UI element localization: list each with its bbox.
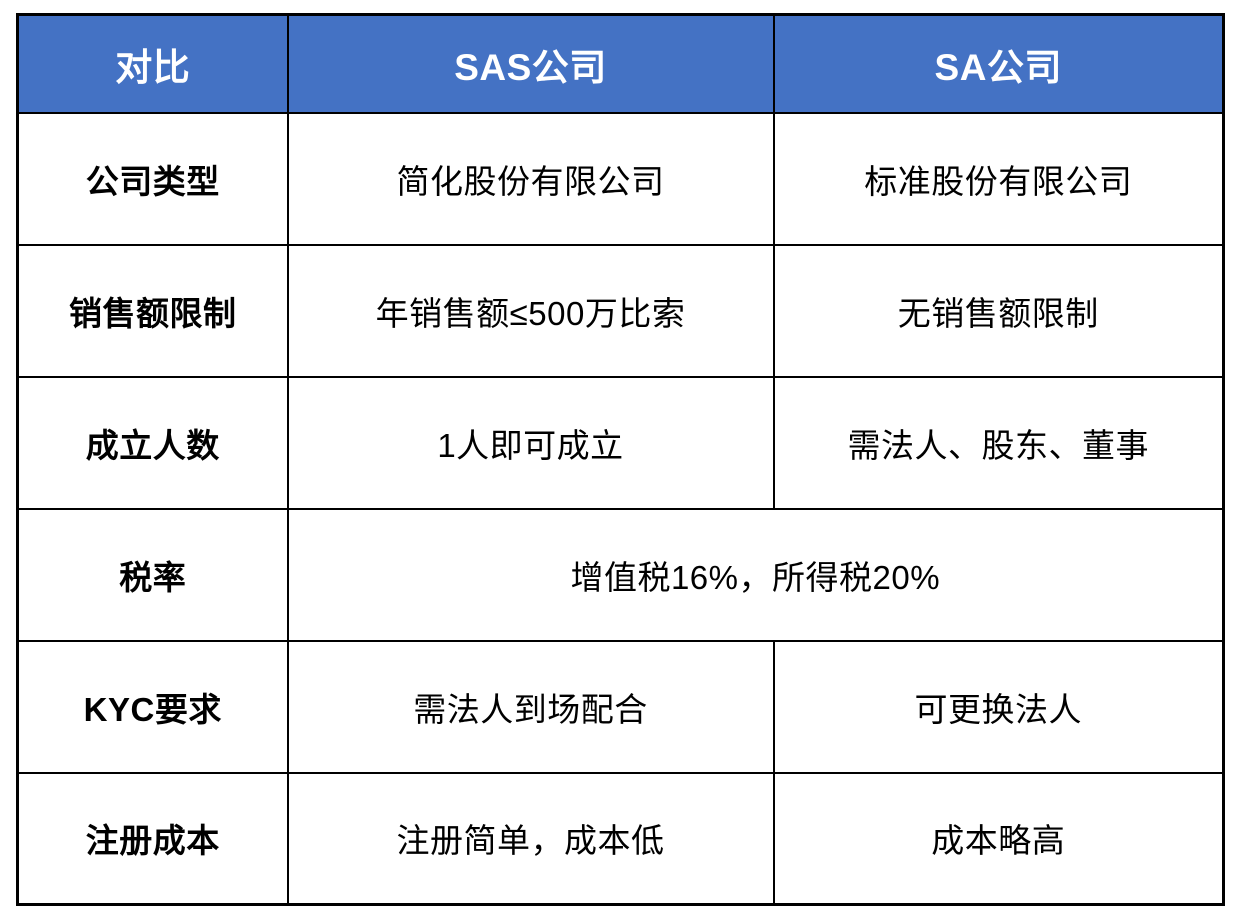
- table-row-founder-count: 成立人数 1人即可成立 需法人、股东、董事: [18, 377, 1224, 509]
- row-label-company-type: 公司类型: [18, 113, 288, 245]
- cell-sas-registration-cost: 注册简单，成本低: [288, 773, 774, 905]
- comparison-table: 对比 SAS公司 SA公司 公司类型 简化股份有限公司 标准股份有限公司 销售额…: [16, 13, 1225, 906]
- table-row-company-type: 公司类型 简化股份有限公司 标准股份有限公司: [18, 113, 1224, 245]
- comparison-table-container: 对比 SAS公司 SA公司 公司类型 简化股份有限公司 标准股份有限公司 销售额…: [16, 13, 1222, 905]
- header-cell-compare: 对比: [18, 15, 288, 113]
- cell-sas-sales-limit: 年销售额≤500万比索: [288, 245, 774, 377]
- cell-merged-tax-rate: 增值税16%，所得税20%: [288, 509, 1224, 641]
- row-label-sales-limit: 销售额限制: [18, 245, 288, 377]
- cell-sas-company-type: 简化股份有限公司: [288, 113, 774, 245]
- table-row-registration-cost: 注册成本 注册简单，成本低 成本略高: [18, 773, 1224, 905]
- table-row-tax-rate: 税率 增值税16%，所得税20%: [18, 509, 1224, 641]
- cell-sa-registration-cost: 成本略高: [774, 773, 1224, 905]
- row-label-founder-count: 成立人数: [18, 377, 288, 509]
- cell-sa-company-type: 标准股份有限公司: [774, 113, 1224, 245]
- row-label-registration-cost: 注册成本: [18, 773, 288, 905]
- header-cell-sa: SA公司: [774, 15, 1224, 113]
- header-cell-sas: SAS公司: [288, 15, 774, 113]
- table-row-sales-limit: 销售额限制 年销售额≤500万比索 无销售额限制: [18, 245, 1224, 377]
- cell-sa-founder-count: 需法人、股东、董事: [774, 377, 1224, 509]
- table-header-row: 对比 SAS公司 SA公司: [18, 15, 1224, 113]
- table-row-kyc: KYC要求 需法人到场配合 可更换法人: [18, 641, 1224, 773]
- table-body: 公司类型 简化股份有限公司 标准股份有限公司 销售额限制 年销售额≤500万比索…: [18, 113, 1224, 905]
- table-header: 对比 SAS公司 SA公司: [18, 15, 1224, 113]
- cell-sa-kyc: 可更换法人: [774, 641, 1224, 773]
- cell-sas-founder-count: 1人即可成立: [288, 377, 774, 509]
- row-label-kyc: KYC要求: [18, 641, 288, 773]
- cell-sa-sales-limit: 无销售额限制: [774, 245, 1224, 377]
- row-label-tax-rate: 税率: [18, 509, 288, 641]
- cell-sas-kyc: 需法人到场配合: [288, 641, 774, 773]
